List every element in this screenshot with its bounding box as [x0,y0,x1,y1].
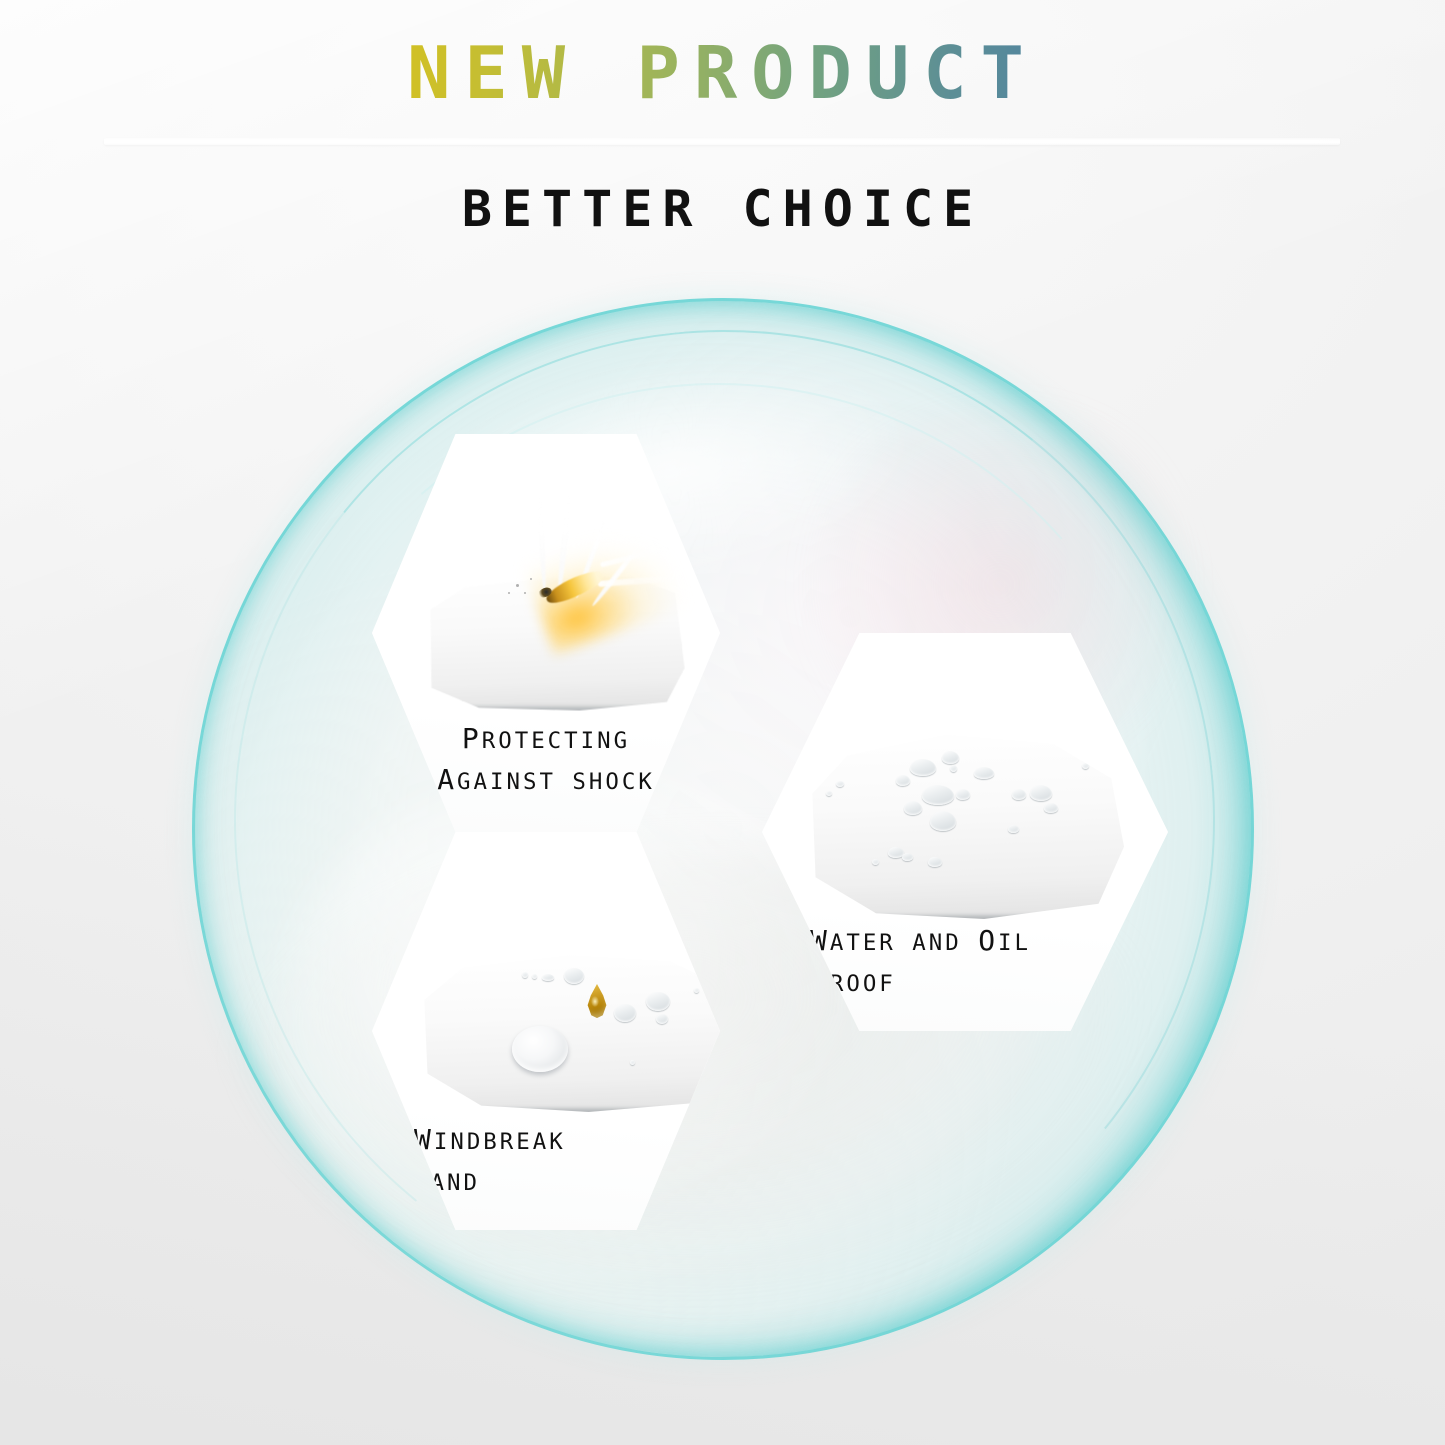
debris-icon [524,592,526,594]
debris-icon [530,578,532,580]
caption-line-1: PROTECTING [372,719,720,760]
water-drop-icon [910,759,936,776]
debris-icon [508,592,510,594]
water-drop-icon [1008,825,1019,833]
water-drop-icon [902,853,913,861]
product-poster: NEW PRODUCT BETTER CHOICE [0,0,1445,1445]
water-drop-icon [1012,789,1026,800]
water-drop-icon [630,1060,635,1065]
water-drop-icon [956,789,970,800]
water-drop-icon [896,775,910,786]
large-water-drop-icon [512,1026,568,1072]
page-title: NEW PRODUCT [0,36,1445,112]
debris-icon [516,584,519,587]
water-drop-icon [646,992,670,1011]
lens-windbreak-icon [418,952,734,1112]
water-drop-icon [542,974,554,981]
water-drop-icon [950,765,957,772]
water-drop-icon [942,751,959,764]
water-drop-icon [694,988,699,993]
water-drop-icon [904,801,922,815]
oil-drop-icon [584,984,610,1018]
water-drop-icon [872,859,879,865]
water-drop-icon [930,811,956,831]
water-drop-icon [928,857,942,867]
water-drop-icon [1044,803,1058,813]
water-drop-icon [836,781,844,787]
water-drop-icon [1030,785,1052,801]
page-subtitle: BETTER CHOICE [0,180,1445,238]
water-drop-icon [826,791,832,796]
water-drop-icon [656,1014,668,1024]
water-drop-icon [614,1004,636,1022]
water-drop-icon [564,968,584,984]
water-drop-icon [974,767,994,779]
water-drop-icon [522,972,528,978]
title-divider [104,138,1340,145]
oil-drop-highlight [591,996,599,1007]
water-drop-icon [922,785,954,805]
water-drop-icon [532,974,537,979]
